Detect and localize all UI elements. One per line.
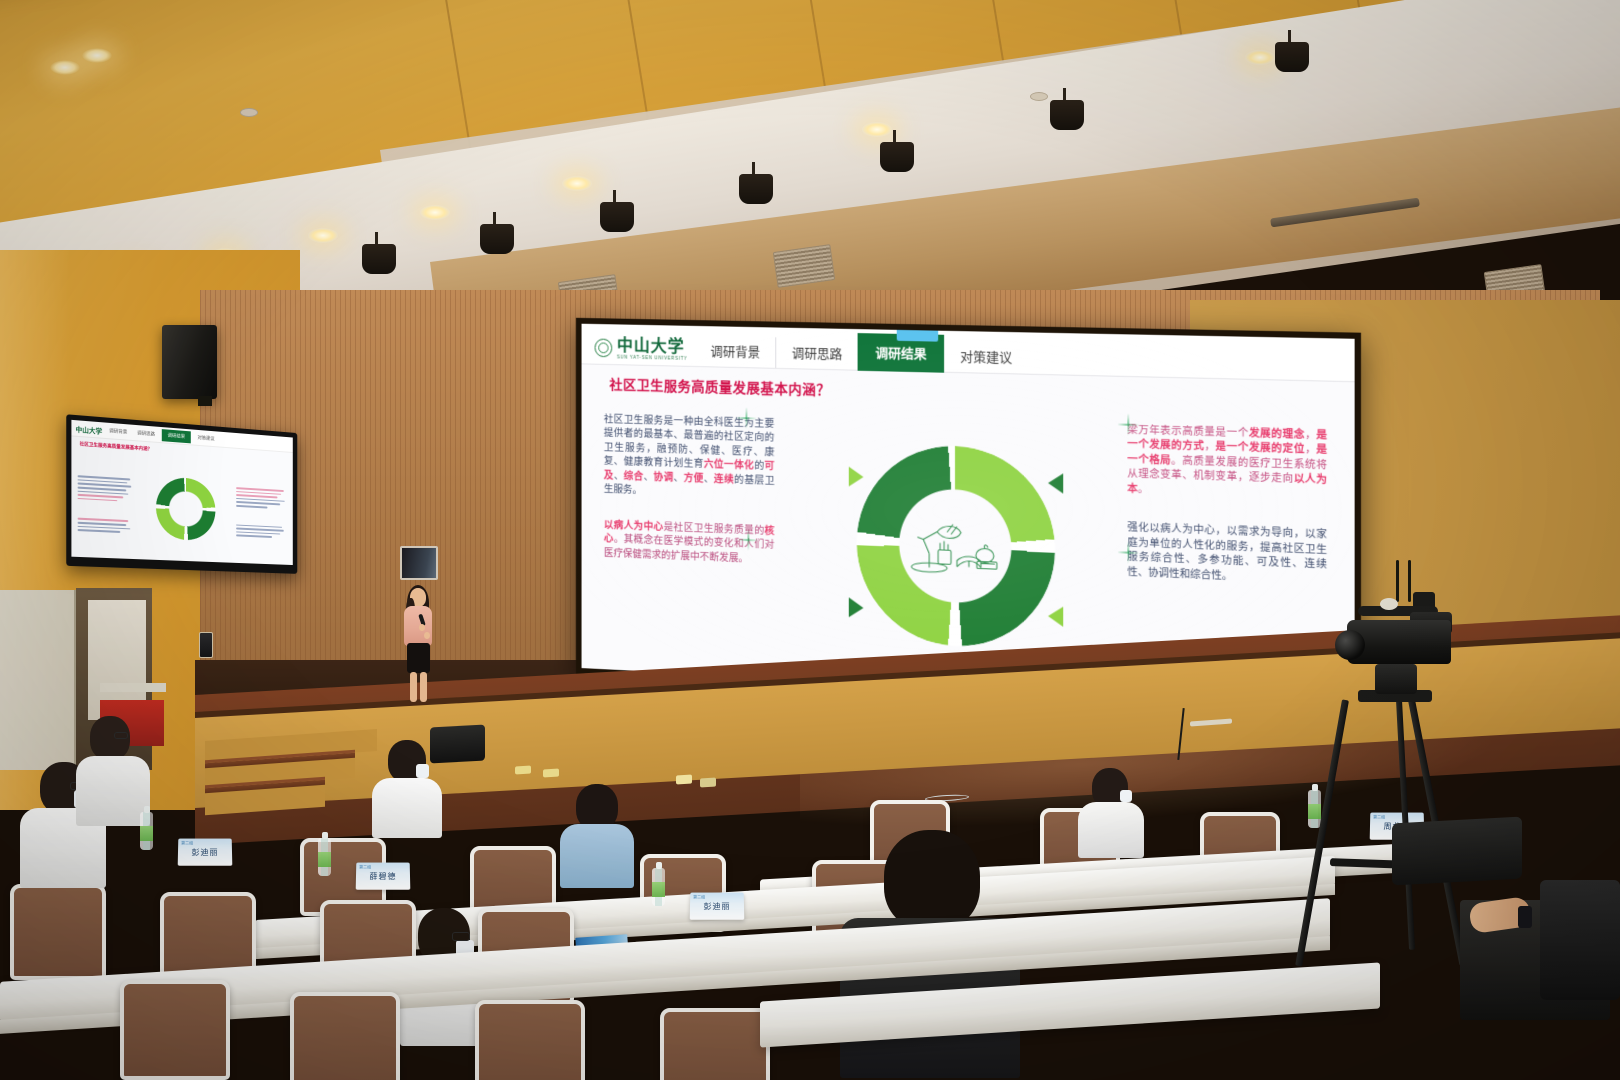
text-block-top-right: 梁万年表示高质量是一个发展的理念，是一个发展的方式，是一个发展的定位，是一个格局… [1127, 424, 1327, 504]
four-point-star-icon [1117, 413, 1140, 436]
triangle-accent-top-left-icon [849, 467, 864, 487]
lecture-hall-scene: 中山大学 调研背景 调研思路 调研结果 对策建议 社区卫生服务高质量发展基本内涵… [0, 0, 1620, 1080]
text-block-bottom-right: 强化以病人为中心，以需求为导向，以家庭为单位的人性化的服务，提高社区卫生服务综合… [1127, 522, 1327, 589]
ceiling-spotlight [880, 142, 914, 172]
stage-prop-tape [543, 769, 559, 778]
wall-speaker-bracket [198, 396, 212, 406]
presenter-leg [420, 672, 427, 702]
presenter-blouse [404, 606, 432, 646]
name-card-tag: 第二组 [181, 840, 193, 846]
presenter-skirt [407, 643, 430, 673]
camera-microphone [1380, 598, 1398, 610]
smoke-detector-icon [1030, 92, 1048, 101]
eyeglasses [452, 932, 470, 941]
operator-body [1540, 880, 1620, 1000]
presenter [398, 588, 438, 706]
name-card-name: 彭迪丽 [191, 847, 218, 858]
side-tab-3: 对策建议 [195, 433, 218, 443]
audience-person [372, 740, 442, 832]
logo-name-cn: 中山大学 [617, 337, 688, 355]
tab-survey-background[interactable]: 调研背景 [695, 336, 775, 368]
person-torso [76, 756, 150, 826]
logo-name-en: SUN YAT-SEN UNIVERSITY [617, 354, 688, 360]
person-torso [372, 778, 442, 838]
side-ring-graphic [156, 476, 216, 541]
tripod-head [1375, 664, 1417, 694]
ceiling-spotlight [600, 202, 634, 232]
wall-control-panel[interactable] [199, 632, 213, 658]
chair[interactable] [10, 884, 106, 980]
face-mask [1120, 790, 1132, 802]
four-point-star-icon [736, 407, 757, 429]
stage-prop-tape [515, 766, 531, 775]
ring-graphic [857, 443, 1056, 651]
name-card: 第二组 彭迪丽 [690, 893, 745, 920]
triangle-accent-bottom-right-icon [1048, 606, 1063, 627]
side-tab-0: 调研背景 [106, 426, 130, 436]
ceiling-spotlight [1050, 100, 1084, 130]
chair[interactable] [660, 1008, 770, 1080]
smoke-detector-icon [240, 108, 258, 117]
person-head [884, 830, 980, 930]
person-torso [1078, 802, 1144, 858]
water-bottle[interactable] [318, 838, 331, 876]
side-tab-1: 调研思路 [134, 428, 158, 438]
ceiling-downlight [308, 228, 338, 243]
camera-antenna [1396, 560, 1399, 602]
bottle-label [1308, 804, 1321, 819]
chair[interactable] [475, 1000, 585, 1080]
eyeglasses [114, 732, 128, 739]
triangle-accent-top-right-icon [1048, 473, 1063, 494]
bottle-label [652, 882, 665, 897]
desk-lamp-book-illustration [908, 509, 1003, 584]
face-mask [416, 764, 429, 778]
stage-prop-tape [676, 775, 692, 785]
ceiling-downlight [50, 60, 80, 75]
side-text-right [236, 485, 287, 540]
ceiling-downlight [862, 122, 892, 137]
university-seal-icon [595, 339, 613, 358]
ceiling-spotlight [480, 224, 514, 254]
camera-lens [1335, 630, 1365, 660]
presenter-hand [419, 624, 425, 631]
entrance-door[interactable] [0, 590, 76, 770]
bottle-label [140, 826, 153, 841]
camera-antenna [1408, 560, 1411, 602]
audience-person [76, 716, 150, 816]
slide-column-left: 社区卫生服务是一种由全科医生为主要提供者的最基本、最普遍的社区定向的卫生服务，融… [595, 400, 794, 675]
university-logo: 中山大学 SUN YAT-SEN UNIVERSITY [582, 336, 696, 366]
side-logo: 中山大学 [76, 423, 103, 435]
name-card-tag: 第二组 [1373, 814, 1385, 820]
person-torso [560, 824, 634, 888]
wall-speaker [162, 325, 217, 399]
name-card: 第二组 薛碧德 [356, 863, 411, 890]
audience-person [560, 784, 634, 880]
name-card-name: 薛碧德 [369, 871, 396, 882]
name-card-name: 彭迪丽 [703, 901, 730, 912]
tab-blue-chip-icon [897, 328, 938, 342]
name-card-tag: 第二组 [693, 894, 705, 900]
ceiling-downlight [420, 205, 450, 220]
water-bottle[interactable] [652, 868, 665, 906]
ceiling-downlight [82, 48, 112, 63]
tab-survey-approach[interactable]: 调研思路 [775, 337, 857, 369]
stage-wall-monitor [400, 546, 438, 580]
ceiling-spotlight [739, 174, 773, 204]
ceiling-downlight [1245, 50, 1275, 65]
tab-recommendations[interactable]: 对策建议 [944, 341, 1028, 374]
four-point-star-icon [738, 529, 759, 551]
side-text-left [78, 473, 135, 535]
presenter-leg [410, 672, 417, 702]
water-bottle[interactable] [1308, 790, 1321, 828]
presenter-hand [424, 632, 430, 639]
ceiling-spotlight [1275, 42, 1309, 72]
ceiling-downlight [562, 176, 592, 191]
chair[interactable] [120, 980, 230, 1080]
name-card-tag: 第二组 [359, 864, 371, 870]
water-bottle[interactable] [140, 812, 153, 850]
stage-steps [205, 735, 380, 813]
wristband [1518, 906, 1532, 928]
triangle-accent-bottom-left-icon [849, 597, 864, 617]
side-tab-2: 调研结果 [162, 429, 191, 443]
chair[interactable] [290, 992, 400, 1080]
audience-person [1078, 768, 1144, 848]
ceiling-spotlight [362, 244, 396, 274]
stage-prop-tape [700, 778, 716, 788]
bottle-label [318, 852, 331, 867]
name-card: 第二组 彭迪丽 [178, 839, 233, 866]
cabinet-top [100, 683, 166, 692]
side-display-monitor: 中山大学 调研背景 调研思路 调研结果 对策建议 社区卫生服务高质量发展基本内涵… [66, 414, 297, 574]
four-point-star-icon [1117, 541, 1140, 564]
floor-speaker [1392, 817, 1522, 886]
